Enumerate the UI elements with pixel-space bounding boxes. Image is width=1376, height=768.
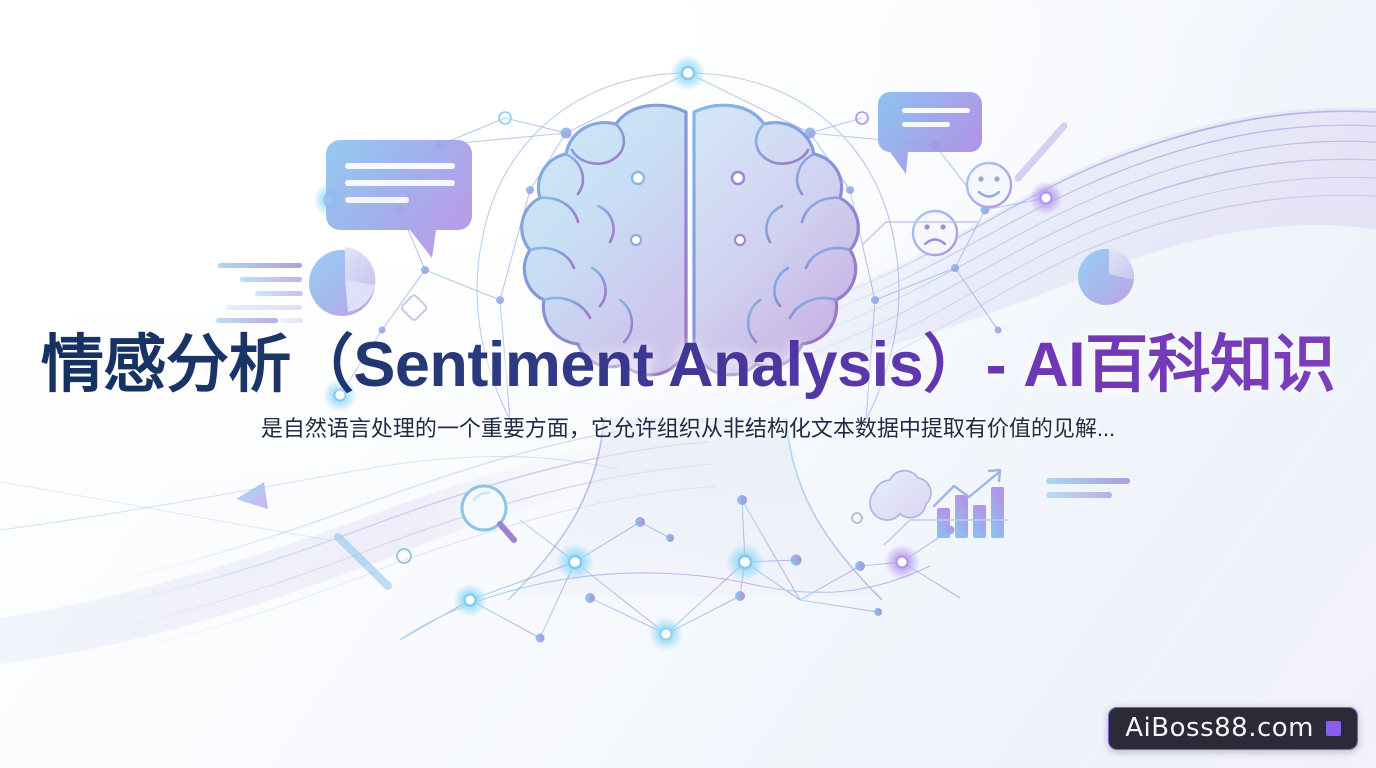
happy-face-icon — [967, 163, 1011, 207]
magnifier-icon — [462, 486, 514, 540]
sad-face-icon — [913, 211, 957, 255]
text-lines-right — [1046, 478, 1130, 498]
page-subtitle: 是自然语言处理的一个重要方面，它允许组织从非结构化文本数据中提取有价值的见解..… — [0, 411, 1376, 443]
pie-chart-right — [1078, 249, 1134, 305]
pie-chart-left — [309, 247, 375, 316]
watermark-badge[interactable]: AiBoss88.com — [1108, 707, 1358, 750]
watermark-label: AiBoss88.com — [1125, 715, 1314, 741]
speech-bubble-right — [878, 92, 982, 174]
bar-chart-trend-icon — [934, 470, 1004, 538]
thought-cloud-icon — [852, 471, 931, 523]
hero-text-block: 情感分析（Sentiment Analysis）- AI百科知识 是自然语言处理… — [0, 330, 1376, 443]
speech-bubble-left — [326, 140, 472, 258]
watermark-square-icon — [1326, 721, 1341, 736]
page-title: 情感分析（Sentiment Analysis）- AI百科知识 — [0, 330, 1376, 401]
text-lines-left — [216, 263, 303, 323]
hero-banner: 情感分析（Sentiment Analysis）- AI百科知识 是自然语言处理… — [0, 0, 1376, 768]
